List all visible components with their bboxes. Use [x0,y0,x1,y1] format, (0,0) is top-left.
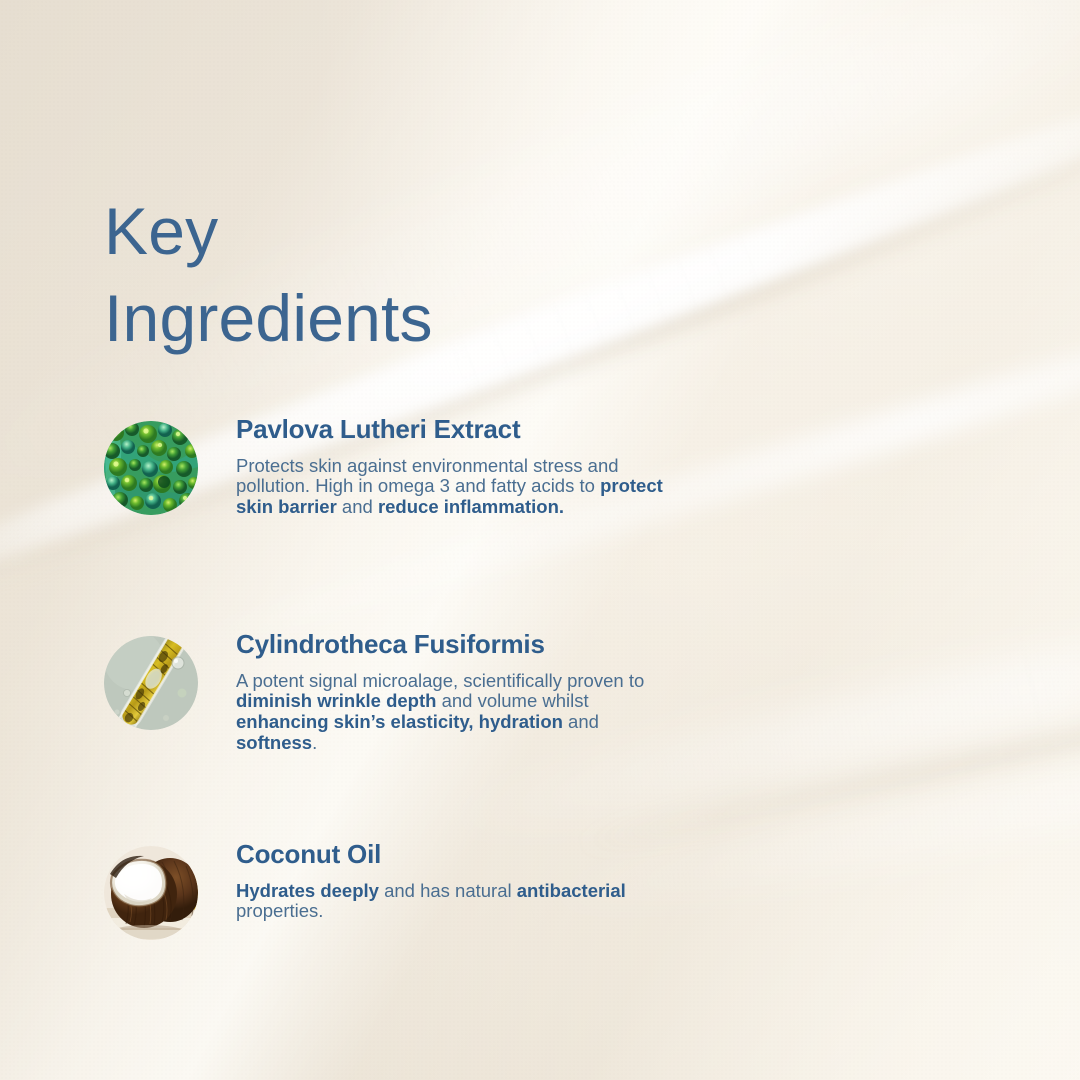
coconut-thumbnail [104,846,198,940]
ingredient-description: Protects skin against environmental stre… [236,456,676,518]
ingredient-text-column: Coconut Oil Hydrates deeply and has natu… [236,840,636,922]
key-ingredients-slide: Key Ingredients [0,0,1080,1080]
ingredient-text-column: Cylindrotheca Fusiformis A potent signal… [236,630,684,753]
ingredient-description: A potent signal microalage, scientifical… [236,671,684,754]
ingredient-item-cylindrotheca-fusiformis: Cylindrotheca Fusiformis A potent signal… [104,630,704,753]
ingredient-item-coconut-oil: Coconut Oil Hydrates deeply and has natu… [104,840,704,940]
green-algae-microscopy-thumbnail [104,421,198,515]
page-title: Key Ingredients [104,188,524,362]
diatom-microscopy-thumbnail [104,636,198,730]
ingredient-name: Coconut Oil [236,840,636,869]
ingredient-item-pavlova-lutheri-extract: Pavlova Lutheri Extract Protects skin ag… [104,415,704,518]
ingredient-description: Hydrates deeply and has natural antibact… [236,881,636,922]
page-title-line-1: Key [104,194,218,268]
ingredient-name: Pavlova Lutheri Extract [236,415,676,444]
ingredient-name: Cylindrotheca Fusiformis [236,630,684,659]
page-title-line-2: Ingredients [104,281,433,355]
ingredient-text-column: Pavlova Lutheri Extract Protects skin ag… [236,415,676,518]
